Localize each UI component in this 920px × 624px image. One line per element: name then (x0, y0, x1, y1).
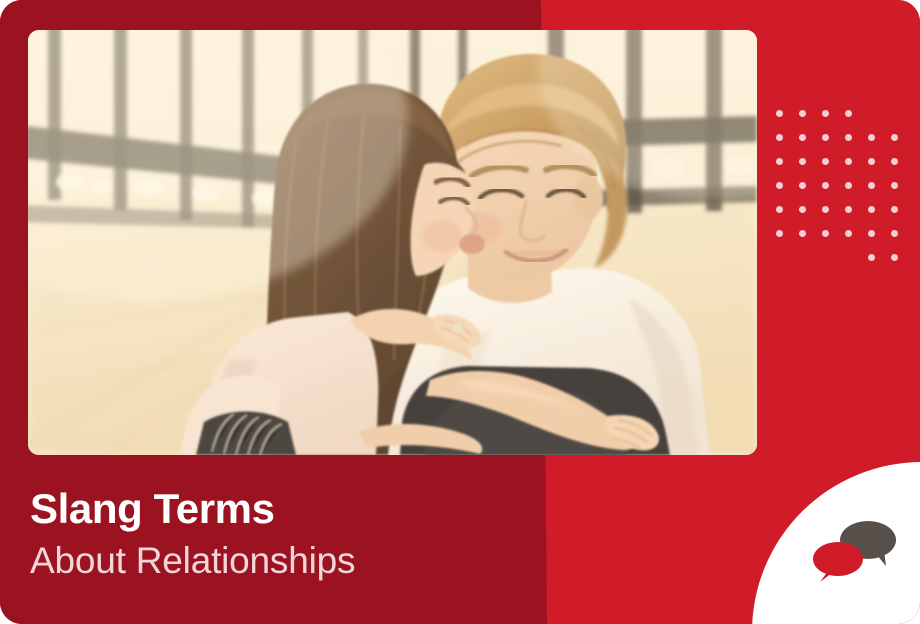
speech-bubbles-icon (806, 518, 898, 584)
speech-bubble-red (813, 542, 863, 582)
grid-dot (822, 206, 829, 213)
grid-dot (799, 182, 806, 189)
grid-dot (845, 134, 852, 141)
grid-dot (868, 254, 875, 261)
grid-dot (822, 182, 829, 189)
couple-photo (28, 30, 757, 455)
grid-dot (799, 206, 806, 213)
grid-dot (891, 206, 898, 213)
grid-dot (868, 182, 875, 189)
grid-dot (822, 110, 829, 117)
grid-dot (845, 206, 852, 213)
dot-grid-decoration (776, 110, 896, 270)
grid-dot (868, 158, 875, 165)
grid-dot (776, 206, 783, 213)
grid-dot (822, 158, 829, 165)
grid-dot (845, 110, 852, 117)
grid-dot (776, 158, 783, 165)
grid-dot (799, 230, 806, 237)
grid-dot (891, 134, 898, 141)
grid-dot (868, 230, 875, 237)
grid-dot (822, 230, 829, 237)
couple-photo-illustration (28, 30, 757, 455)
grid-dot (845, 230, 852, 237)
grid-dot (891, 158, 898, 165)
grid-dot (776, 230, 783, 237)
grid-dot (776, 182, 783, 189)
grid-dot (868, 206, 875, 213)
grid-dot (845, 182, 852, 189)
grid-dot (776, 110, 783, 117)
grid-dot (891, 254, 898, 261)
page-title: Slang Terms (30, 487, 550, 531)
text-block: Slang Terms About Relationships (30, 487, 550, 582)
grid-dot (891, 230, 898, 237)
grid-dot (868, 134, 875, 141)
grid-dot (776, 134, 783, 141)
grid-dot (799, 110, 806, 117)
grid-dot (799, 134, 806, 141)
grid-dot (822, 134, 829, 141)
grid-dot (799, 158, 806, 165)
grid-dot (891, 182, 898, 189)
grid-dot (845, 158, 852, 165)
slang-terms-card: Slang Terms About Relationships (0, 0, 920, 624)
page-subtitle: About Relationships (30, 541, 550, 582)
